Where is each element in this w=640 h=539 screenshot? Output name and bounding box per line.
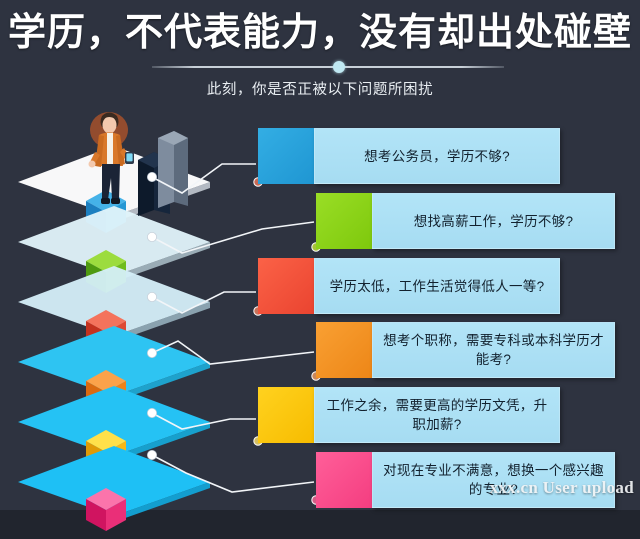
row-5-text: 工作之余，需要更高的学历文凭，升职加薪? — [315, 396, 559, 434]
watermark: xxx.cn User upload — [490, 478, 634, 498]
divider-line — [152, 66, 504, 68]
row-2-color-swatch — [316, 193, 372, 249]
problem-row-2[interactable]: 想找高薪工作，学历不够? — [316, 193, 615, 249]
row-4-text: 想考个职称，需要专科或本科学历才能考? — [373, 331, 614, 369]
row-1-color-swatch — [258, 128, 314, 184]
row-3-text: 学历太低，工作生活觉得低人一等? — [320, 277, 555, 296]
row-5-color-swatch — [258, 387, 314, 443]
header: 学历，不代表能力，没有却出处碰壁 此刻，你是否正被以下问题所困扰 — [0, 0, 640, 108]
row-3-panel[interactable]: 学历太低，工作生活觉得低人一等? — [314, 258, 560, 314]
row-3-color-swatch — [258, 258, 314, 314]
row-2-text: 想找高薪工作，学历不够? — [404, 212, 584, 231]
row-4-color-swatch — [316, 322, 372, 378]
row-1-text: 想考公务员，学历不够? — [354, 147, 520, 166]
page-subtitle: 此刻，你是否正被以下问题所困扰 — [0, 78, 640, 99]
problem-row-5[interactable]: 工作之余，需要更高的学历文凭，升职加薪? — [258, 387, 560, 443]
row-2-panel[interactable]: 想找高薪工作，学历不够? — [372, 193, 615, 249]
problem-row-4[interactable]: 想考个职称，需要专科或本科学历才能考? — [316, 322, 615, 378]
pink-cube — [84, 486, 128, 539]
row-1-panel[interactable]: 想考公务员，学历不够? — [314, 128, 560, 184]
row-4-panel[interactable]: 想考个职称，需要专科或本科学历才能考? — [372, 322, 615, 378]
isometric-layer-stack-illustration — [0, 100, 250, 510]
row-5-panel[interactable]: 工作之余，需要更高的学历文凭，升职加薪? — [314, 387, 560, 443]
row-6-color-swatch — [316, 452, 372, 508]
divider-dot-icon — [333, 61, 345, 73]
problem-row-3[interactable]: 学历太低，工作生活觉得低人一等? — [258, 258, 560, 314]
problem-row-1[interactable]: 想考公务员，学历不够? — [258, 128, 560, 184]
divider — [152, 60, 504, 74]
standing-person-illustration — [78, 108, 148, 213]
page-title: 学历，不代表能力，没有却出处碰壁 — [0, 8, 640, 58]
